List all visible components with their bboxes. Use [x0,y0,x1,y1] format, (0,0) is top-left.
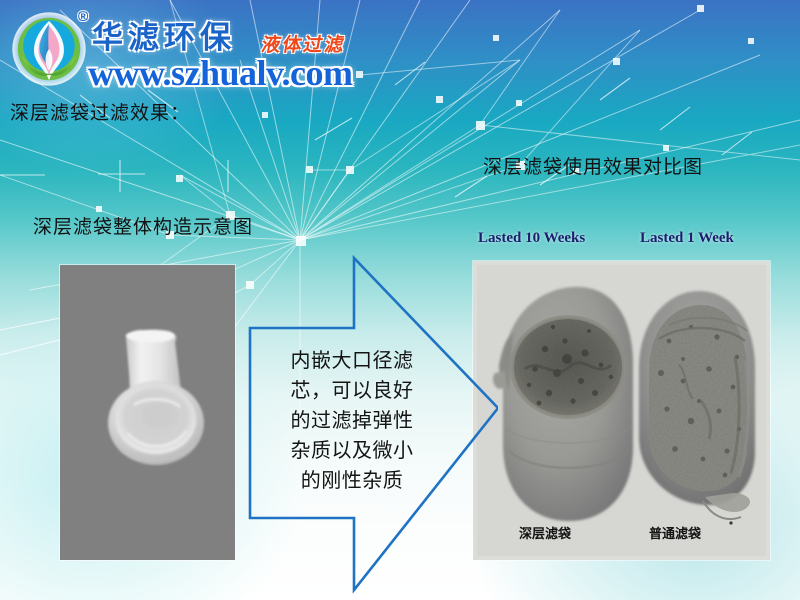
page-title-left: 深层滤袋过滤效果： [10,98,190,125]
diagram-subtitle: 深层滤袋整体构造示意图 [33,212,253,239]
page-title-right: 深层滤袋使用效果对比图 [483,152,703,179]
label-lasted-1-week: Lasted 1 Week [640,230,734,247]
arrow-text-line: 芯，可以良好 [272,375,432,405]
arrow-text-line: 的过滤掉弹性 [272,405,432,435]
arrow-text-line: 内嵌大口径滤 [272,345,432,375]
photo-caption-left: 深层滤袋 [519,526,572,542]
used-filter-bags-comparison-photo: 深层滤袋 普通滤袋 [473,261,770,560]
arrow-description-text: 内嵌大口径滤 芯，可以良好 的过滤掉弹性 杂质以及微小 的刚性杂质 [272,345,432,495]
company-logo-block: ® 华滤环保 液体过滤 www.szhualv.com [4,4,394,96]
arrow-text-line: 杂质以及微小 [272,435,432,465]
label-lasted-10-weeks: Lasted 10 Weeks [478,230,585,247]
deep-filter-bag-product-photo [60,265,235,560]
slide-canvas: ® 华滤环保 液体过滤 www.szhualv.com 深层滤袋过滤效果： 深层… [0,0,800,600]
company-website-url: www.szhualv.com [88,52,353,94]
registered-trademark-mark: ® [78,8,88,24]
brand-name-chinese: 华滤环保 [92,12,236,57]
arrow-text-line: 的刚性杂质 [272,465,432,495]
hualv-circular-leaf-logo-icon [10,10,88,88]
photo-caption-right: 普通滤袋 [649,526,702,542]
